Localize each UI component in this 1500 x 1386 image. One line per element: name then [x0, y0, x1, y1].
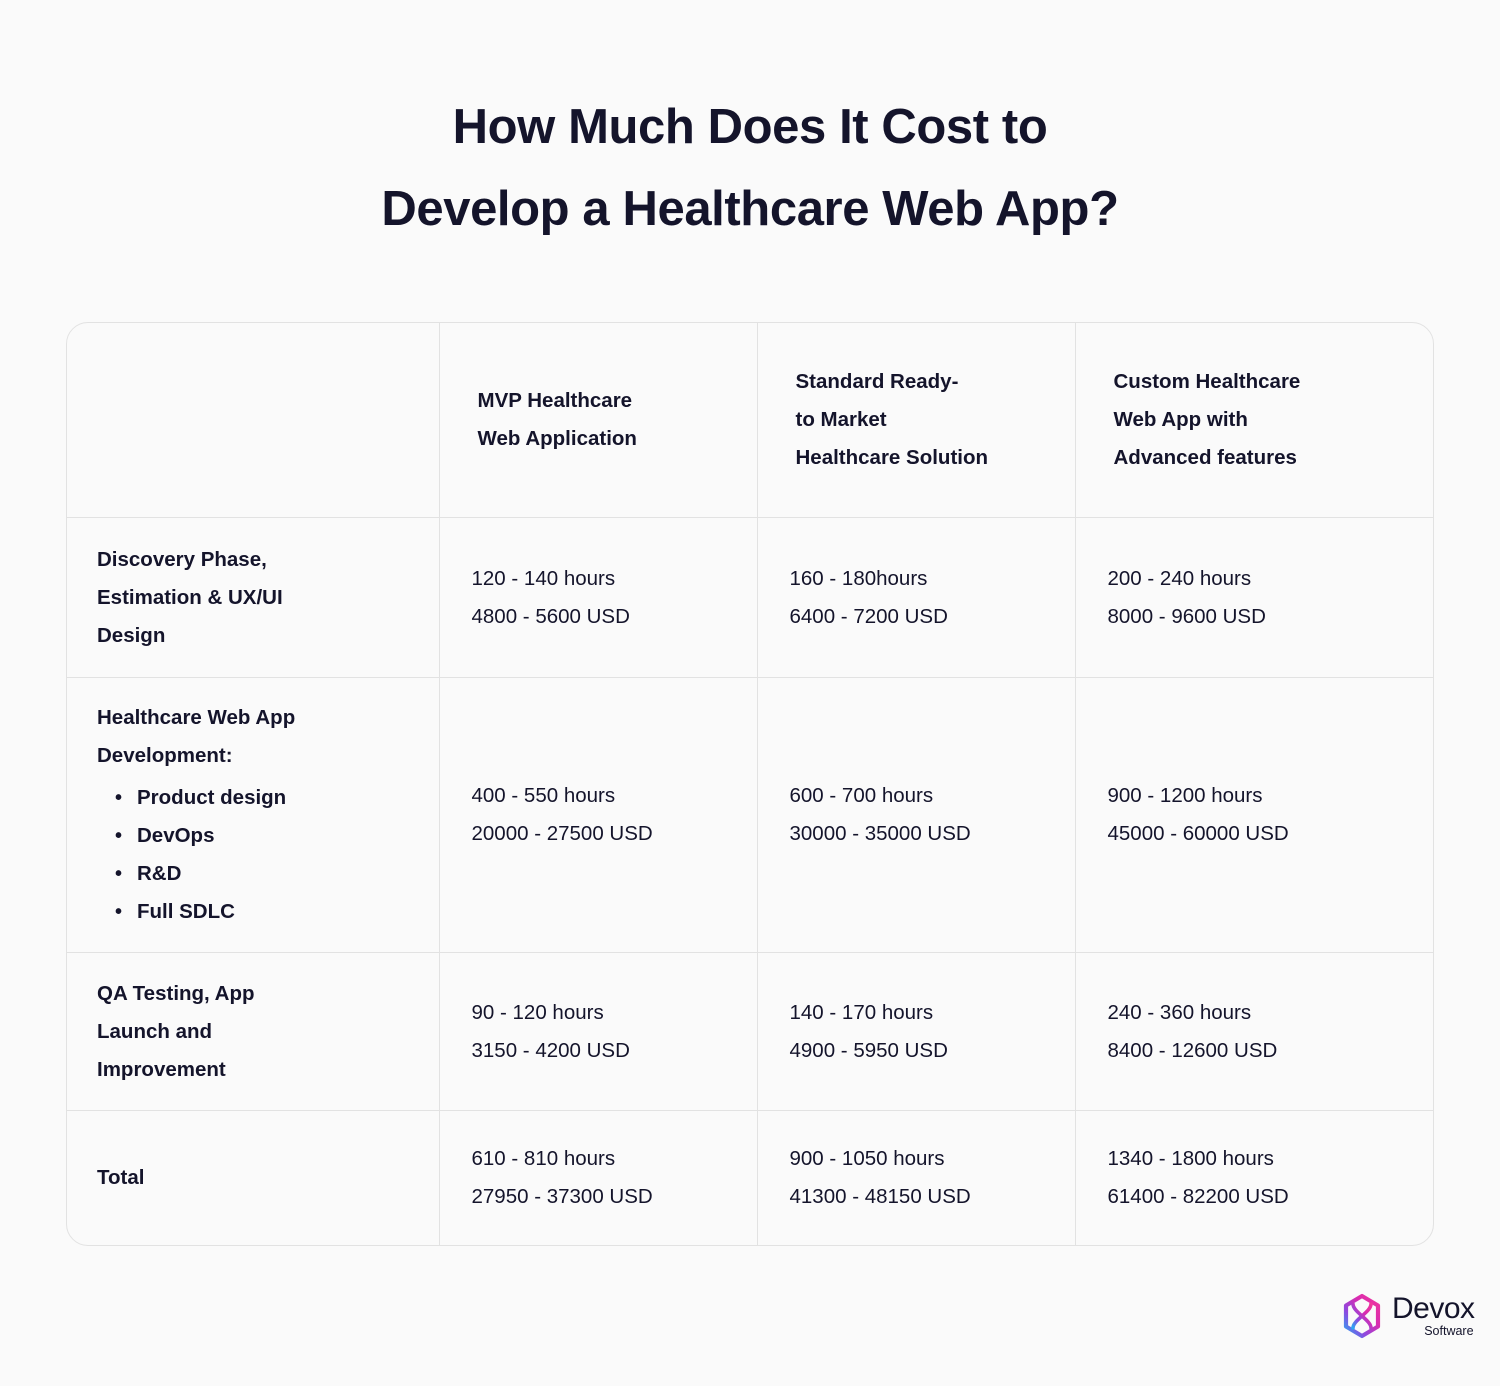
table-header-row: MVP Healthcare Web Application Standard … — [67, 323, 1433, 518]
row-label-line: Launch and — [97, 1013, 419, 1051]
cell-qa-custom: 240 - 360 hours 8400 - 12600 USD — [1075, 953, 1433, 1111]
cell-discovery-mvp: 120 - 140 hours 4800 - 5600 USD — [439, 518, 757, 678]
list-item: DevOps — [107, 817, 419, 855]
table-header-standard-line-2: to Market — [796, 401, 1047, 439]
table-header-custom: Custom Healthcare Web App with Advanced … — [1075, 323, 1433, 518]
row-label-line: Improvement — [97, 1051, 419, 1089]
table-header-standard-line-3: Healthcare Solution — [796, 439, 1047, 477]
table-header-custom-line-2: Web App with — [1114, 401, 1406, 439]
cell-total-standard: 900 - 1050 hours 41300 - 48150 USD — [757, 1111, 1075, 1245]
cost-comparison-table: MVP Healthcare Web Application Standard … — [66, 322, 1434, 1246]
page-title-line-2: Develop a Healthcare Web App? — [0, 168, 1500, 250]
row-label-line: Estimation & UX/UI — [97, 579, 419, 617]
cell-total-mvp: 610 - 810 hours 27950 - 37300 USD — [439, 1111, 757, 1245]
table-header-standard-line-1: Standard Ready- — [796, 363, 1047, 401]
row-label-qa: QA Testing, App Launch and Improvement — [67, 953, 439, 1111]
row-label-discovery: Discovery Phase, Estimation & UX/UI Desi… — [67, 518, 439, 678]
table-row: QA Testing, App Launch and Improvement 9… — [67, 953, 1433, 1111]
row-label-line: Design — [97, 617, 419, 655]
list-item: R&D — [107, 855, 419, 893]
row-label-total: Total — [67, 1111, 439, 1245]
row-label-line: Development: — [97, 737, 419, 775]
list-item: Product design — [107, 779, 419, 817]
table-row: Discovery Phase, Estimation & UX/UI Desi… — [67, 518, 1433, 678]
table-row: Healthcare Web App Development: Product … — [67, 678, 1433, 953]
logo-name: Devox — [1392, 1294, 1475, 1324]
row-label-line: Healthcare Web App — [97, 699, 419, 737]
cell-development-mvp: 400 - 550 hours 20000 - 27500 USD — [439, 678, 757, 953]
infographic-page: How Much Does It Cost to Develop a Healt… — [0, 0, 1500, 1386]
page-title: How Much Does It Cost to Develop a Healt… — [0, 0, 1500, 250]
cell-discovery-standard: 160 - 180hours 6400 - 7200 USD — [757, 518, 1075, 678]
cell-discovery-custom: 200 - 240 hours 8000 - 9600 USD — [1075, 518, 1433, 678]
table-header-mvp-line-2: Web Application — [478, 420, 729, 458]
row-label-line: QA Testing, App — [97, 975, 419, 1013]
page-title-line-1: How Much Does It Cost to — [0, 86, 1500, 168]
cell-total-custom: 1340 - 1800 hours 61400 - 82200 USD — [1075, 1111, 1433, 1245]
cell-qa-standard: 140 - 170 hours 4900 - 5950 USD — [757, 953, 1075, 1111]
devox-hexagon-icon — [1338, 1292, 1386, 1340]
table-header-custom-line-1: Custom Healthcare — [1114, 363, 1406, 401]
devox-logo: Devox Software — [1338, 1288, 1478, 1344]
cell-qa-mvp: 90 - 120 hours 3150 - 4200 USD — [439, 953, 757, 1111]
row-label-line: Discovery Phase, — [97, 541, 419, 579]
cell-development-standard: 600 - 700 hours 30000 - 35000 USD — [757, 678, 1075, 953]
table-header-standard: Standard Ready- to Market Healthcare Sol… — [757, 323, 1075, 518]
row-label-development: Healthcare Web App Development: Product … — [67, 678, 439, 953]
logo-subtitle: Software — [1424, 1325, 1473, 1338]
row-label-line: Total — [97, 1159, 419, 1197]
table-row: Total 610 - 810 hours 27950 - 37300 USD … — [67, 1111, 1433, 1245]
table-header-empty-corner — [67, 323, 439, 518]
table-header-custom-line-3: Advanced features — [1114, 439, 1406, 477]
table-header-mvp-line-1: MVP Healthcare — [478, 382, 729, 420]
development-bullet-list: Product design DevOps R&D Full SDLC — [97, 779, 419, 931]
list-item: Full SDLC — [107, 893, 419, 931]
table-header-mvp: MVP Healthcare Web Application — [439, 323, 757, 518]
cell-development-custom: 900 - 1200 hours 45000 - 60000 USD — [1075, 678, 1433, 953]
